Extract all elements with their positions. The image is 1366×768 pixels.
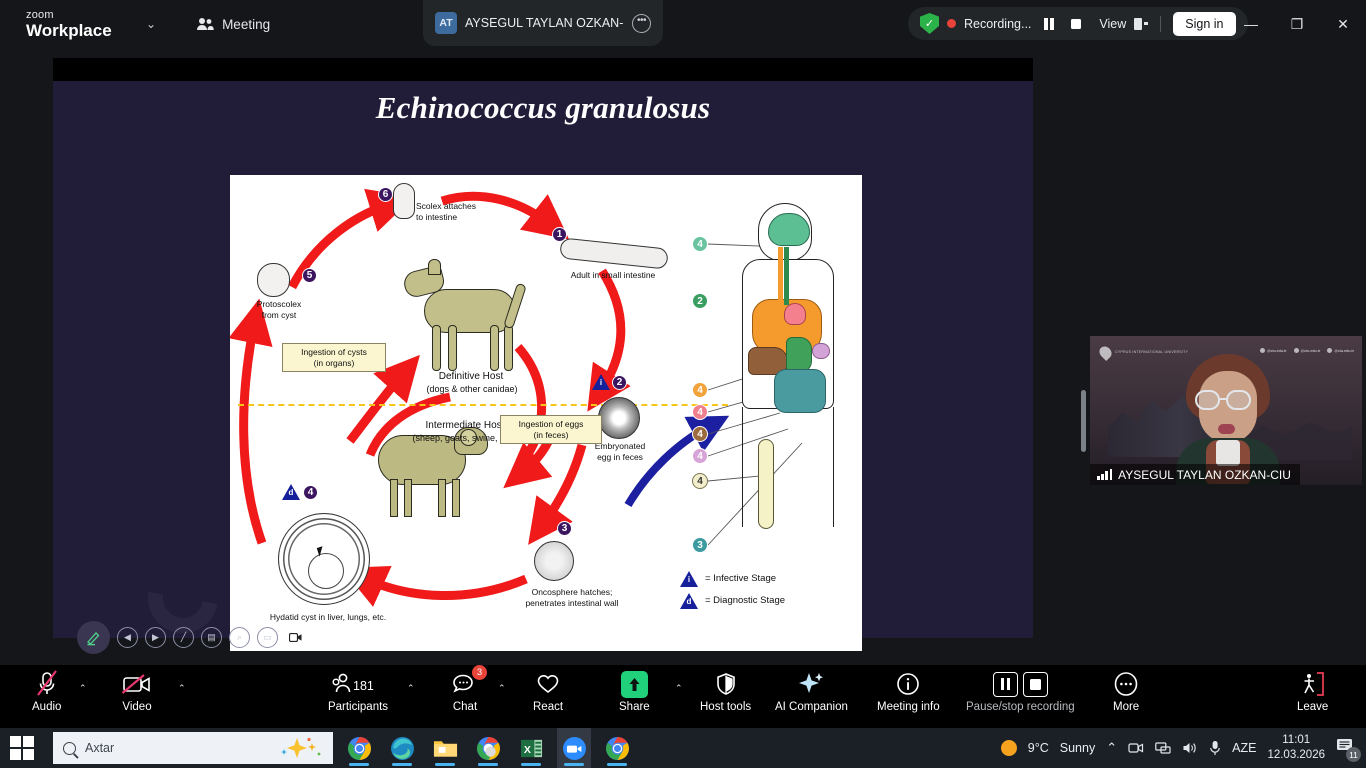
notification-count: 11 — [1346, 747, 1361, 762]
toolbar-label-leave: Leave — [1297, 701, 1328, 713]
taskbar-chrome-icon[interactable] — [342, 728, 376, 768]
taskbar-app-icons: X — [342, 728, 634, 768]
taskbar-chrome-meet-icon[interactable] — [471, 728, 505, 768]
meeting-label: Meeting — [222, 17, 270, 32]
pause-icon[interactable] — [993, 672, 1018, 697]
participants-count: 181 — [353, 679, 374, 693]
sparkle-icon — [797, 668, 825, 700]
weather-condition: Sunny — [1060, 741, 1095, 755]
toolbar-label-audio: Audio — [32, 701, 61, 713]
university-watermark: CYPRUS INTERNATIONAL UNIVERSITY — [1100, 346, 1188, 359]
label-protoscolex: Protoscolex from cyst — [246, 299, 312, 320]
toolbar-label-meeting-info: Meeting info — [877, 701, 940, 713]
university-logo-icon — [1097, 344, 1114, 361]
stop-recording-button[interactable] — [1066, 14, 1085, 33]
body-marker-2-ingestion: 2 — [692, 293, 708, 309]
human-body-illustration — [728, 203, 854, 575]
toolbar-label-share: Share — [619, 701, 650, 713]
label-definitive-host-sub: (dogs & other canidae) — [402, 384, 542, 395]
annotation-toolbar: ◀ ▶ ╱ ▤ ⌕ ▭ — [77, 621, 306, 654]
protoscolex-sketch — [257, 263, 290, 297]
slide-title: Echinococcus granulosus — [53, 90, 1033, 126]
maximize-button[interactable]: ❐ — [1274, 0, 1320, 48]
host-divider-line — [238, 404, 728, 406]
body-marker-4-brain: 4 — [692, 236, 708, 252]
stage-number-5: 5 — [302, 268, 317, 283]
legend-infective-icon: i — [680, 571, 698, 587]
notification-center-icon[interactable]: 11 — [1336, 737, 1358, 759]
video-options-caret[interactable]: ⌃ — [178, 683, 186, 694]
microphone-icon[interactable] — [1209, 740, 1221, 756]
body-marker-4-lung: 4 — [692, 382, 708, 398]
heart-icon — [536, 668, 560, 700]
toolbar-label-more: More — [1113, 701, 1139, 713]
chat-icon: 3 — [452, 668, 478, 700]
title-bar: zoom Workplace ⌄ Meeting AT AYSEGUL TAYL… — [0, 0, 1366, 48]
mic-muted-icon — [36, 668, 58, 700]
body-marker-3-intestine: 3 — [692, 537, 708, 553]
taskbar-chrome-icon-2[interactable] — [600, 728, 634, 768]
search-placeholder: Axtar — [85, 741, 114, 755]
toolbar-label-ai-companion: AI Companion — [775, 701, 848, 713]
zoom-meeting-window: zoom Workplace ⌄ Meeting AT AYSEGUL TAYL… — [0, 0, 1366, 768]
record-dot-icon — [947, 19, 956, 28]
draw-icon[interactable]: ╱ — [173, 627, 194, 648]
people-icon: 181 — [327, 668, 389, 700]
ingestion-of-cysts-box: Ingestion of cysts (in organs) — [282, 343, 386, 372]
network-icon[interactable] — [1155, 741, 1171, 755]
toolbar-label-react: React — [533, 701, 563, 713]
airway — [778, 247, 783, 305]
eyeglasses-left — [1195, 390, 1220, 410]
meeting-button[interactable]: Meeting — [196, 17, 270, 32]
label-definitive-host: Definitive Host — [408, 371, 534, 384]
clock-date: 12.03.2026 — [1267, 748, 1325, 763]
stage-number-2: 2 — [612, 375, 627, 390]
zoom-logo-line2: Workplace — [26, 22, 136, 39]
heart-organ — [784, 303, 806, 325]
recording-pill: ✓ Recording... View Sign in — [908, 7, 1248, 40]
presentation-slide: Echinococcus granulosus — [53, 58, 1033, 638]
meeting-tab[interactable]: AT AYSEGUL TAYLAN OZKAN-CIU's s ••• — [423, 0, 663, 46]
chevron-down-icon[interactable]: ⌄ — [146, 17, 156, 31]
toolbar-item-ai-companion[interactable]: AI Companion — [775, 668, 848, 713]
mouth — [1218, 424, 1235, 434]
shield-icon: ✓ — [920, 13, 939, 34]
shield-icon — [715, 668, 737, 700]
sign-in-button[interactable]: Sign in — [1173, 12, 1235, 36]
legend-diagnostic-symbol: d — [686, 597, 692, 606]
toolbar-item-chat[interactable]: 3 Chat — [452, 668, 478, 713]
esophagus — [784, 247, 789, 305]
lifecycle-diagram: 6 1 5 2 3 4 i d — [230, 175, 862, 651]
audio-options-caret[interactable]: ⌃ — [79, 683, 87, 694]
spleen-organ — [812, 343, 830, 359]
info-icon — [896, 668, 920, 700]
toolbar-item-pause-stop-recording[interactable]: Pause/stop recording — [966, 668, 1075, 713]
ellipsis-icon — [1113, 668, 1139, 700]
pause-recording-button[interactable] — [1039, 14, 1058, 33]
legend-diagnostic-icon: d — [680, 593, 698, 609]
view-button[interactable]: View — [1099, 17, 1126, 31]
taskbar-search[interactable]: Axtar — [53, 732, 333, 764]
participant-name: AYSEGUL TAYLAN OZKAN-CIU — [1118, 468, 1291, 482]
toolbar-label-host-tools: Host tools — [700, 701, 751, 713]
ingestion-of-eggs-box: Ingestion of eggs (in feces) — [500, 415, 602, 444]
language-indicator[interactable]: AZE — [1232, 741, 1256, 755]
legend-diagnostic-text: = Diagnostic Stage — [705, 595, 785, 607]
shared-content-stage: Echinococcus granulosus — [0, 48, 1366, 665]
toolbar-label-video: Video — [122, 701, 151, 713]
tab-avatar: AT — [435, 12, 457, 34]
toolbar-label-pause-stop-recording: Pause/stop recording — [966, 701, 1075, 713]
previous-slide-icon[interactable]: ◀ — [117, 627, 138, 648]
content-scrollbar[interactable] — [1081, 390, 1086, 452]
layout-icon[interactable]: ▤ — [201, 627, 222, 648]
stage-number-4: 4 — [303, 485, 318, 500]
taskbar-edge-icon[interactable] — [385, 728, 419, 768]
oncosphere-sketch — [534, 541, 574, 581]
zoom-logo-line1: zoom — [26, 10, 136, 21]
weather-temp: 9°C — [1028, 741, 1049, 755]
system-tray: 9°C Sunny ⌃ AZE 11:01 12.03.2026 11 — [1001, 728, 1366, 768]
participant-video-thumbnail[interactable]: CYPRUS INTERNATIONAL UNIVERSITY @ciu.edu… — [1090, 336, 1362, 485]
taskbar-zoom-icon[interactable] — [557, 728, 591, 768]
label-oncosphere: Oncosphere hatches; penetrates intestina… — [502, 587, 642, 608]
body-marker-4-spleen: 4 — [692, 448, 708, 464]
camera-muted-icon — [122, 668, 152, 700]
toolbar-item-share[interactable]: Share — [619, 668, 650, 713]
social-handles: @ciu.edu.tr @ciu.edu.tr @ciu.edu.tr — [1260, 348, 1354, 353]
embryonated-egg-sketch — [598, 397, 640, 439]
scolex-sketch — [393, 183, 415, 219]
view-layout-icon[interactable] — [1134, 18, 1148, 30]
stop-icon[interactable] — [1023, 672, 1048, 697]
body-marker-4-heart: 4 — [692, 404, 708, 420]
start-button-icon[interactable] — [10, 736, 34, 760]
toolbar-item-meeting-info[interactable]: Meeting info — [877, 668, 940, 713]
leave-icon — [1300, 668, 1326, 700]
participants-options-caret[interactable]: ⌃ — [407, 683, 415, 694]
search-icon — [63, 742, 76, 755]
record-controls-icon — [993, 668, 1048, 700]
participant-name-badge: AYSEGUL TAYLAN OZKAN-CIU — [1090, 464, 1300, 485]
toolbar-label-participants: Participants — [328, 701, 388, 713]
legend-infective-text: = Infective Stage — [705, 573, 776, 585]
stomach-organ — [786, 337, 812, 373]
chat-unread-badge: 3 — [472, 665, 487, 680]
slide-top-band — [53, 58, 1033, 81]
pen-icon[interactable] — [77, 621, 110, 654]
meeting-toolbar: Audio ⌃ Video ⌃ 181 — [0, 665, 1366, 728]
toolbar-item-leave[interactable]: Leave — [1297, 668, 1328, 713]
clock-time: 11:01 — [1267, 733, 1325, 748]
camera-icon[interactable] — [285, 627, 306, 648]
volume-icon[interactable] — [1182, 741, 1198, 755]
legend-infective-symbol: i — [686, 575, 692, 584]
body-marker-4-bone: 4 — [692, 473, 708, 489]
stage-number-6: 6 — [378, 187, 393, 202]
toolbar-label-chat: Chat — [453, 701, 477, 713]
label-scolex: Scolex attaches to intestine — [416, 201, 502, 222]
minimize-button[interactable]: — — [1228, 0, 1274, 48]
eyeglasses-right — [1226, 390, 1251, 410]
toolbar-item-more[interactable]: More — [1113, 668, 1139, 713]
diagnostic-stage-marker: d — [282, 484, 300, 500]
brain-organ — [768, 213, 810, 246]
toolbar-item-audio[interactable]: Audio — [32, 668, 61, 713]
toolbar-item-host-tools[interactable]: Host tools — [700, 668, 751, 713]
label-adult: Adult in small intestine — [548, 270, 678, 281]
next-slide-icon[interactable]: ▶ — [145, 627, 166, 648]
svg-text:X: X — [523, 743, 530, 755]
zoom-logo: zoom Workplace — [26, 10, 136, 39]
social-handle: @ciu.edu.tr — [1327, 348, 1354, 353]
windows-taskbar: Axtar — [0, 728, 1366, 768]
social-handle: @ciu.edu.tr — [1294, 348, 1321, 353]
collar — [1216, 440, 1240, 466]
taskbar-clock[interactable]: 11:01 12.03.2026 — [1267, 733, 1325, 763]
toolbar-item-participants[interactable]: 181 Participants — [327, 668, 389, 713]
recording-status: Recording... — [964, 17, 1031, 31]
tab-more-icon[interactable]: ••• — [632, 14, 651, 33]
taskbar-file-explorer-icon[interactable] — [428, 728, 462, 768]
magnify-icon[interactable]: ⌕ — [229, 627, 250, 648]
toolbar-item-react[interactable]: React — [533, 668, 563, 713]
hydatid-inner-cyst — [308, 553, 344, 589]
signal-strength-icon — [1097, 469, 1112, 480]
tray-expand-icon[interactable]: ⌃ — [1106, 740, 1117, 756]
tab-title: AYSEGUL TAYLAN OZKAN-CIU's s — [465, 16, 624, 30]
taskbar-excel-icon[interactable]: X — [514, 728, 548, 768]
camera-share-icon[interactable] — [1128, 741, 1144, 755]
dog-illustration — [398, 253, 532, 377]
stage-number-3: 3 — [557, 521, 572, 536]
window-controls: — ❐ ✕ — [1228, 0, 1366, 48]
body-marker-4-liver: 4 — [692, 426, 708, 442]
infective-stage-marker: i — [592, 374, 610, 390]
social-handle: @ciu.edu.tr — [1260, 348, 1287, 353]
weather-icon — [1001, 740, 1017, 756]
people-icon — [196, 17, 214, 31]
share-options-caret[interactable]: ⌃ — [675, 683, 683, 694]
share-icon — [621, 668, 648, 700]
divider — [1160, 16, 1161, 32]
legend: i = Infective Stage d = Diagnostic Stage — [680, 571, 785, 609]
copilot-sparkle-icon[interactable] — [269, 736, 325, 760]
chat-options-caret[interactable]: ⌃ — [498, 683, 506, 694]
toolbar-item-video[interactable]: Video — [122, 668, 152, 713]
notes-icon[interactable]: ▭ — [257, 627, 278, 648]
close-button[interactable]: ✕ — [1320, 0, 1366, 48]
eyeglasses-bridge — [1220, 398, 1228, 400]
